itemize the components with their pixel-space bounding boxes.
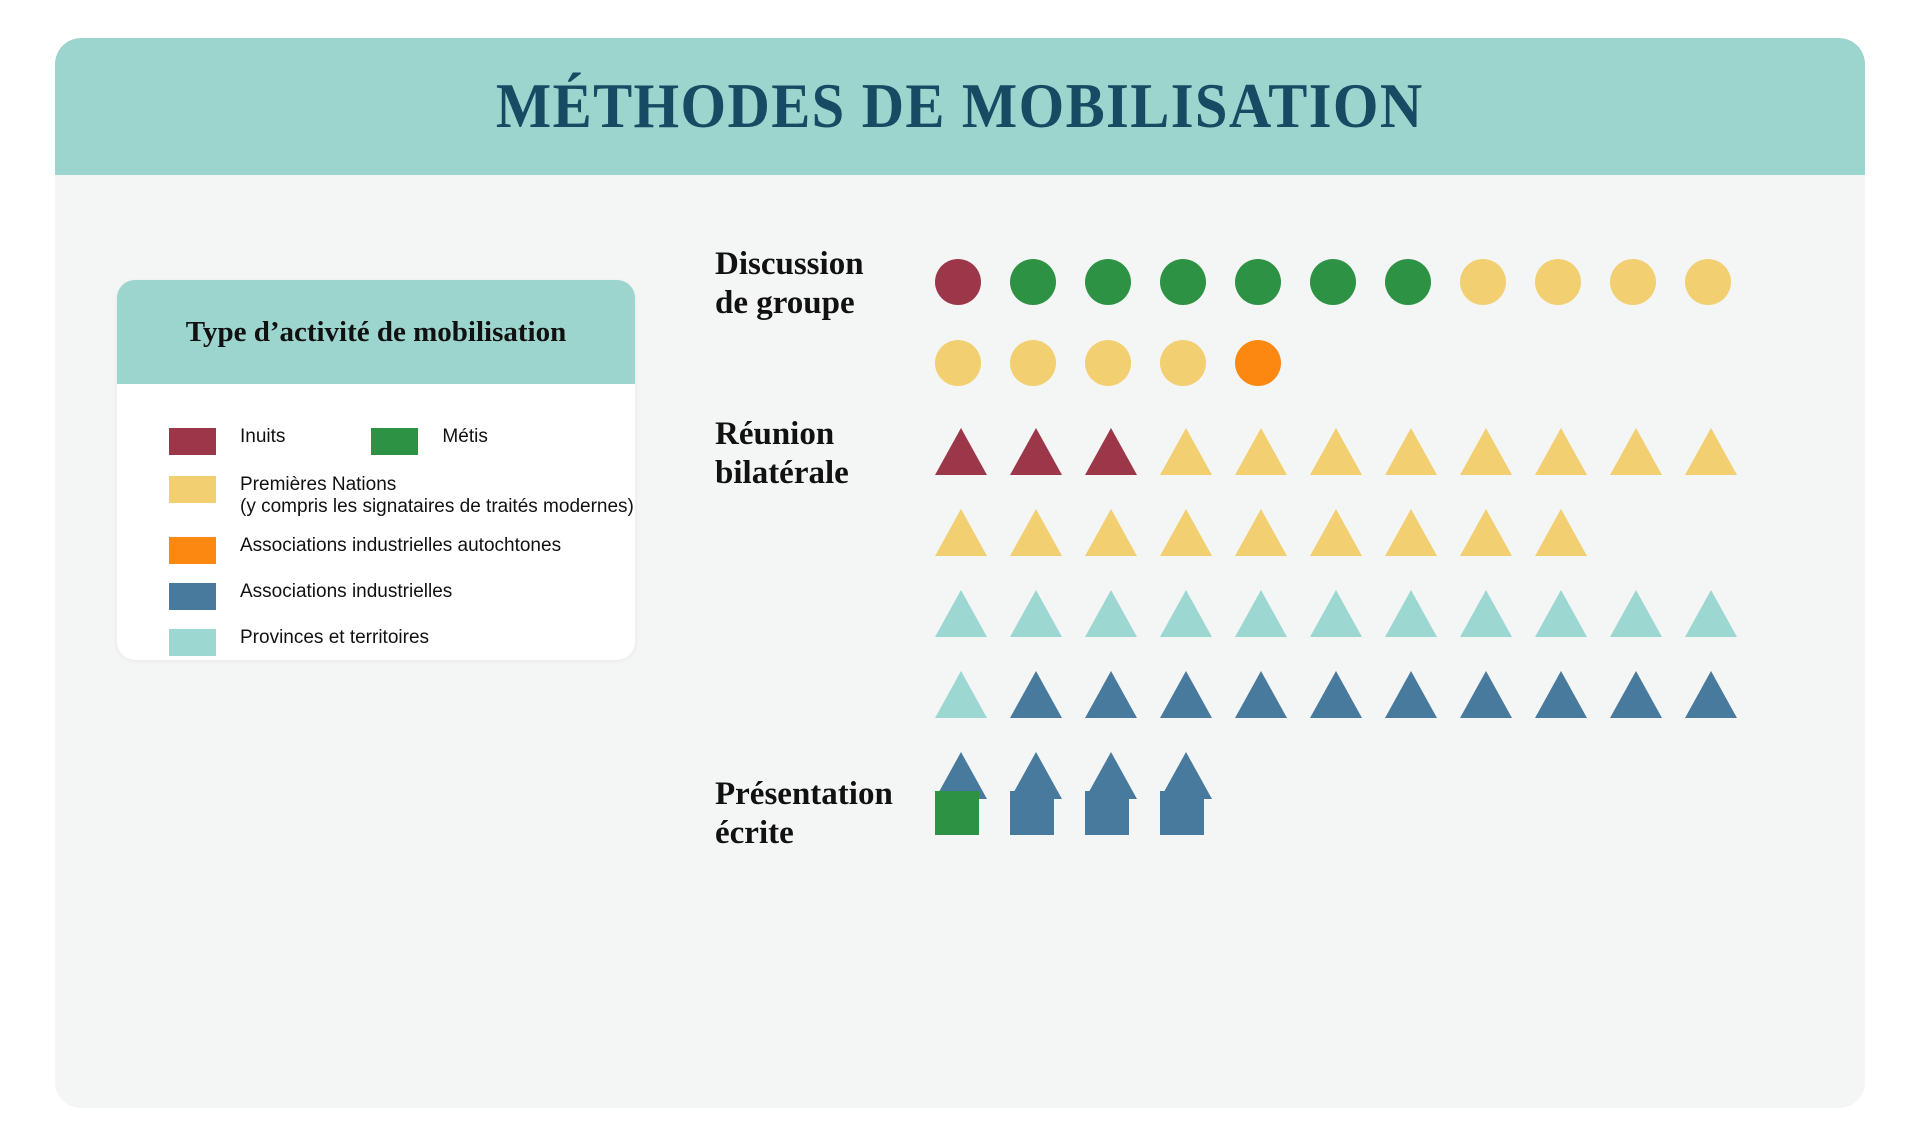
icon-cell bbox=[935, 671, 1010, 718]
icon-cell bbox=[1010, 428, 1085, 475]
icon-row bbox=[935, 415, 1760, 475]
icon-cell bbox=[1610, 428, 1685, 475]
icon-cell bbox=[1160, 340, 1235, 386]
icon-grid bbox=[935, 775, 1235, 856]
icon-cell bbox=[1535, 259, 1610, 305]
icon-cell bbox=[1160, 259, 1235, 305]
triangle-premieres-nations-icon bbox=[935, 509, 987, 556]
circle-premieres-nations-icon bbox=[1160, 340, 1206, 386]
triangle-premieres-nations-icon bbox=[1235, 509, 1287, 556]
triangle-provinces-territoires-icon bbox=[935, 590, 987, 637]
triangle-provinces-territoires-icon bbox=[1310, 590, 1362, 637]
icon-cell bbox=[935, 428, 1010, 475]
icon-cell bbox=[1685, 590, 1760, 637]
icon-cell bbox=[1310, 590, 1385, 637]
icon-cell bbox=[1235, 340, 1310, 386]
icon-cell bbox=[1460, 590, 1535, 637]
icon-cell bbox=[1610, 590, 1685, 637]
circle-metis-icon bbox=[1235, 259, 1281, 305]
square-assoc-industrielles-icon bbox=[1085, 791, 1129, 835]
icon-cell bbox=[1385, 590, 1460, 637]
circle-metis-icon bbox=[1310, 259, 1356, 305]
icon-cell bbox=[1535, 509, 1610, 556]
triangle-provinces-territoires-icon bbox=[1385, 590, 1437, 637]
icon-cell bbox=[1310, 259, 1385, 305]
triangle-premieres-nations-icon bbox=[1460, 509, 1512, 556]
circle-premieres-nations-icon bbox=[1685, 259, 1731, 305]
icon-cell bbox=[935, 509, 1010, 556]
icon-cell bbox=[1085, 259, 1160, 305]
icon-cell bbox=[1010, 340, 1085, 386]
icon-cell bbox=[1160, 509, 1235, 556]
icon-cell bbox=[1535, 671, 1610, 718]
icon-cell bbox=[1385, 428, 1460, 475]
icon-cell bbox=[1010, 259, 1085, 305]
pictogram-chart: Discussion de groupeRéunion bilatéralePr… bbox=[55, 175, 1865, 1108]
icon-cell bbox=[1160, 671, 1235, 718]
icon-cell bbox=[1235, 428, 1310, 475]
circle-metis-icon bbox=[1085, 259, 1131, 305]
icon-cell bbox=[1460, 259, 1535, 305]
icon-cell bbox=[1385, 509, 1460, 556]
triangle-assoc-industrielles-icon bbox=[1385, 671, 1437, 718]
triangle-assoc-industrielles-icon bbox=[1535, 671, 1587, 718]
category-label: Présentation écrite bbox=[715, 775, 965, 853]
triangle-assoc-industrielles-icon bbox=[1685, 671, 1737, 718]
triangle-premieres-nations-icon bbox=[1535, 509, 1587, 556]
icon-cell bbox=[1160, 791, 1235, 835]
triangle-assoc-industrielles-icon bbox=[1160, 671, 1212, 718]
triangle-premieres-nations-icon bbox=[1310, 428, 1362, 475]
circle-premieres-nations-icon bbox=[1460, 259, 1506, 305]
triangle-premieres-nations-icon bbox=[1535, 428, 1587, 475]
circle-assoc-ind-autochtones-icon bbox=[1235, 340, 1281, 386]
circle-premieres-nations-icon bbox=[1535, 259, 1581, 305]
triangle-provinces-territoires-icon bbox=[1535, 590, 1587, 637]
triangle-provinces-territoires-icon bbox=[1235, 590, 1287, 637]
icon-row bbox=[935, 326, 1760, 386]
icon-cell bbox=[1310, 509, 1385, 556]
category-label: Discussion de groupe bbox=[715, 245, 965, 323]
triangle-premieres-nations-icon bbox=[1235, 428, 1287, 475]
square-assoc-industrielles-icon bbox=[1010, 791, 1054, 835]
triangle-premieres-nations-icon bbox=[1310, 509, 1362, 556]
icon-cell bbox=[1685, 259, 1760, 305]
icon-cell bbox=[1685, 671, 1760, 718]
triangle-inuits-icon bbox=[935, 428, 987, 475]
icon-cell bbox=[1310, 428, 1385, 475]
icon-cell bbox=[1085, 590, 1160, 637]
icon-cell bbox=[1235, 590, 1310, 637]
circle-metis-icon bbox=[1010, 259, 1056, 305]
triangle-provinces-territoires-icon bbox=[935, 671, 987, 718]
triangle-premieres-nations-icon bbox=[1385, 509, 1437, 556]
icon-cell bbox=[1235, 259, 1310, 305]
circle-premieres-nations-icon bbox=[1610, 259, 1656, 305]
icon-cell bbox=[1010, 791, 1085, 835]
icon-row bbox=[935, 245, 1760, 305]
icon-cell bbox=[1235, 671, 1310, 718]
category-label: Réunion bilatérale bbox=[715, 415, 965, 493]
icon-cell bbox=[1085, 340, 1160, 386]
icon-cell bbox=[935, 340, 1010, 386]
triangle-inuits-icon bbox=[1085, 428, 1137, 475]
icon-cell bbox=[1535, 428, 1610, 475]
triangle-provinces-territoires-icon bbox=[1010, 590, 1062, 637]
circle-premieres-nations-icon bbox=[1085, 340, 1131, 386]
triangle-premieres-nations-icon bbox=[1685, 428, 1737, 475]
triangle-assoc-industrielles-icon bbox=[1235, 671, 1287, 718]
circle-metis-icon bbox=[1385, 259, 1431, 305]
icon-cell bbox=[935, 791, 1010, 835]
triangle-premieres-nations-icon bbox=[1160, 509, 1212, 556]
square-assoc-industrielles-icon bbox=[1160, 791, 1204, 835]
icon-cell bbox=[1460, 428, 1535, 475]
icon-cell bbox=[1610, 671, 1685, 718]
poster-header: MÉTHODES DE MOBILISATION bbox=[55, 38, 1865, 175]
icon-cell bbox=[1235, 509, 1310, 556]
icon-cell bbox=[1010, 590, 1085, 637]
circle-premieres-nations-icon bbox=[935, 340, 981, 386]
icon-row bbox=[935, 658, 1760, 718]
icon-cell bbox=[1535, 590, 1610, 637]
icon-cell bbox=[1085, 428, 1160, 475]
icon-cell bbox=[1385, 671, 1460, 718]
square-metis-icon bbox=[935, 791, 979, 835]
triangle-premieres-nations-icon bbox=[1085, 509, 1137, 556]
icon-cell bbox=[1085, 791, 1160, 835]
icon-cell bbox=[1385, 259, 1460, 305]
icon-cell bbox=[1460, 671, 1535, 718]
icon-grid bbox=[935, 245, 1760, 407]
triangle-provinces-territoires-icon bbox=[1610, 590, 1662, 637]
triangle-assoc-industrielles-icon bbox=[1460, 671, 1512, 718]
triangle-provinces-territoires-icon bbox=[1160, 590, 1212, 637]
icon-cell bbox=[1460, 509, 1535, 556]
circle-inuits-icon bbox=[935, 259, 981, 305]
circle-premieres-nations-icon bbox=[1010, 340, 1056, 386]
icon-row bbox=[935, 577, 1760, 637]
triangle-premieres-nations-icon bbox=[1010, 509, 1062, 556]
icon-cell bbox=[1085, 509, 1160, 556]
triangle-provinces-territoires-icon bbox=[1085, 590, 1137, 637]
icon-cell bbox=[1310, 671, 1385, 718]
icon-row bbox=[935, 496, 1760, 556]
page-title: MÉTHODES DE MOBILISATION bbox=[496, 70, 1424, 143]
icon-cell bbox=[1685, 428, 1760, 475]
icon-cell bbox=[1010, 671, 1085, 718]
icon-row bbox=[935, 775, 1235, 835]
triangle-assoc-industrielles-icon bbox=[1085, 671, 1137, 718]
icon-cell bbox=[1160, 590, 1235, 637]
icon-cell bbox=[935, 259, 1010, 305]
icon-cell bbox=[1085, 671, 1160, 718]
triangle-assoc-industrielles-icon bbox=[1010, 671, 1062, 718]
infographic-poster: MÉTHODES DE MOBILISATION Type d’activité… bbox=[55, 38, 1865, 1108]
triangle-assoc-industrielles-icon bbox=[1310, 671, 1362, 718]
triangle-inuits-icon bbox=[1010, 428, 1062, 475]
triangle-premieres-nations-icon bbox=[1610, 428, 1662, 475]
icon-grid bbox=[935, 415, 1760, 820]
icon-cell bbox=[935, 590, 1010, 637]
triangle-premieres-nations-icon bbox=[1460, 428, 1512, 475]
icon-cell bbox=[1610, 259, 1685, 305]
icon-cell bbox=[1160, 428, 1235, 475]
triangle-premieres-nations-icon bbox=[1160, 428, 1212, 475]
icon-cell bbox=[1010, 509, 1085, 556]
triangle-provinces-territoires-icon bbox=[1460, 590, 1512, 637]
circle-metis-icon bbox=[1160, 259, 1206, 305]
triangle-provinces-territoires-icon bbox=[1685, 590, 1737, 637]
triangle-premieres-nations-icon bbox=[1385, 428, 1437, 475]
triangle-assoc-industrielles-icon bbox=[1610, 671, 1662, 718]
